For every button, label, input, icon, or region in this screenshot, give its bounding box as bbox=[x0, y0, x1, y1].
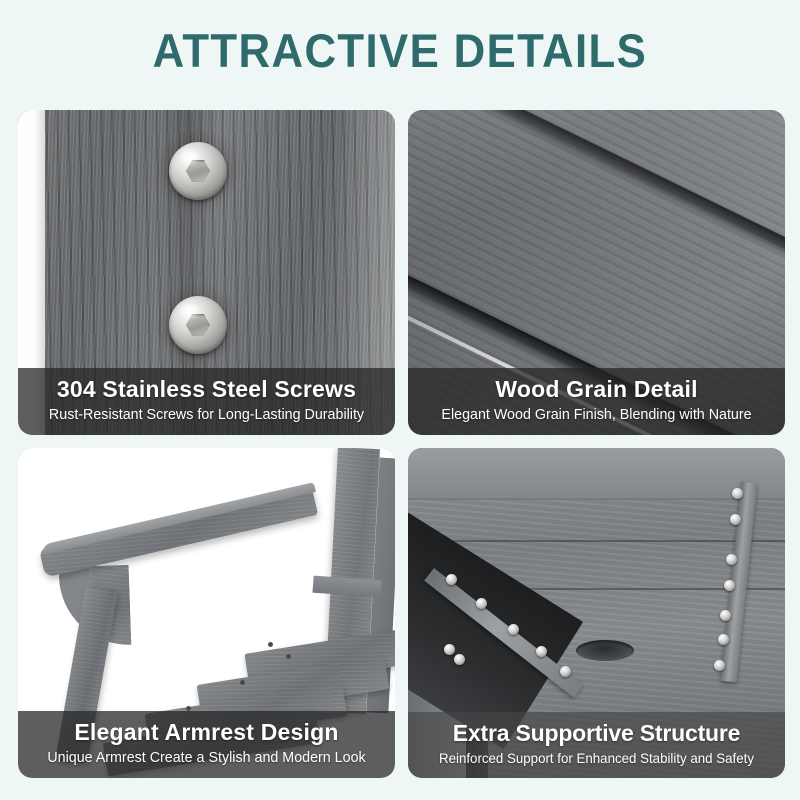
bolt-head bbox=[508, 624, 519, 635]
bolt-head bbox=[454, 654, 465, 665]
caption-subtitle: Elegant Wood Grain Finish, Blending with… bbox=[423, 406, 771, 424]
caption-title: Wood Grain Detail bbox=[420, 377, 773, 403]
bolt-head bbox=[730, 514, 741, 525]
bolt-head bbox=[724, 580, 735, 591]
panel-caption: Elegant Armrest Design Unique Armrest Cr… bbox=[18, 711, 395, 778]
bolt-head bbox=[444, 644, 455, 655]
detail-panel-supportive-structure[interactable]: Extra Supportive Structure Reinforced Su… bbox=[408, 448, 785, 778]
bolt-head bbox=[446, 574, 457, 585]
panel-caption: Extra Supportive Structure Reinforced Su… bbox=[408, 712, 785, 778]
bolt-head bbox=[726, 554, 737, 565]
umbrella-slot bbox=[576, 640, 634, 661]
panel-caption: Wood Grain Detail Elegant Wood Grain Fin… bbox=[408, 368, 785, 435]
details-grid: 304 Stainless Steel Screws Rust-Resistan… bbox=[18, 110, 785, 780]
caption-subtitle: Rust-Resistant Screws for Long-Lasting D… bbox=[33, 406, 381, 424]
bolt-head bbox=[560, 666, 571, 677]
page-header: ATTRACTIVE DETAILS bbox=[0, 0, 800, 100]
seat-screw-dot bbox=[286, 654, 291, 659]
bolt-head bbox=[720, 610, 731, 621]
bolt-head bbox=[732, 488, 743, 499]
detail-panel-stainless-screws[interactable]: 304 Stainless Steel Screws Rust-Resistan… bbox=[18, 110, 395, 435]
hex-screw-icon-top bbox=[169, 142, 227, 200]
bolt-head bbox=[536, 646, 547, 657]
caption-subtitle: Unique Armrest Create a Stylish and Mode… bbox=[33, 749, 381, 767]
board-seam bbox=[408, 540, 785, 542]
table-top-board bbox=[408, 448, 785, 500]
caption-subtitle: Reinforced Support for Enhanced Stabilit… bbox=[429, 750, 764, 768]
seat-screw-dot bbox=[240, 680, 245, 685]
detail-panel-armrest[interactable]: Elegant Armrest Design Unique Armrest Cr… bbox=[18, 448, 395, 778]
bolt-head bbox=[718, 634, 729, 645]
seat-screw-dot bbox=[268, 642, 273, 647]
caption-title: 304 Stainless Steel Screws bbox=[30, 377, 383, 403]
bolt-head bbox=[714, 660, 725, 671]
caption-title: Extra Supportive Structure bbox=[420, 721, 773, 747]
detail-panel-wood-grain[interactable]: Wood Grain Detail Elegant Wood Grain Fin… bbox=[408, 110, 785, 435]
bolt-head bbox=[476, 598, 487, 609]
hex-screw-icon-bottom bbox=[169, 296, 227, 354]
panel-caption: 304 Stainless Steel Screws Rust-Resistan… bbox=[18, 368, 395, 435]
page-title: ATTRACTIVE DETAILS bbox=[153, 23, 648, 78]
caption-title: Elegant Armrest Design bbox=[30, 720, 383, 746]
